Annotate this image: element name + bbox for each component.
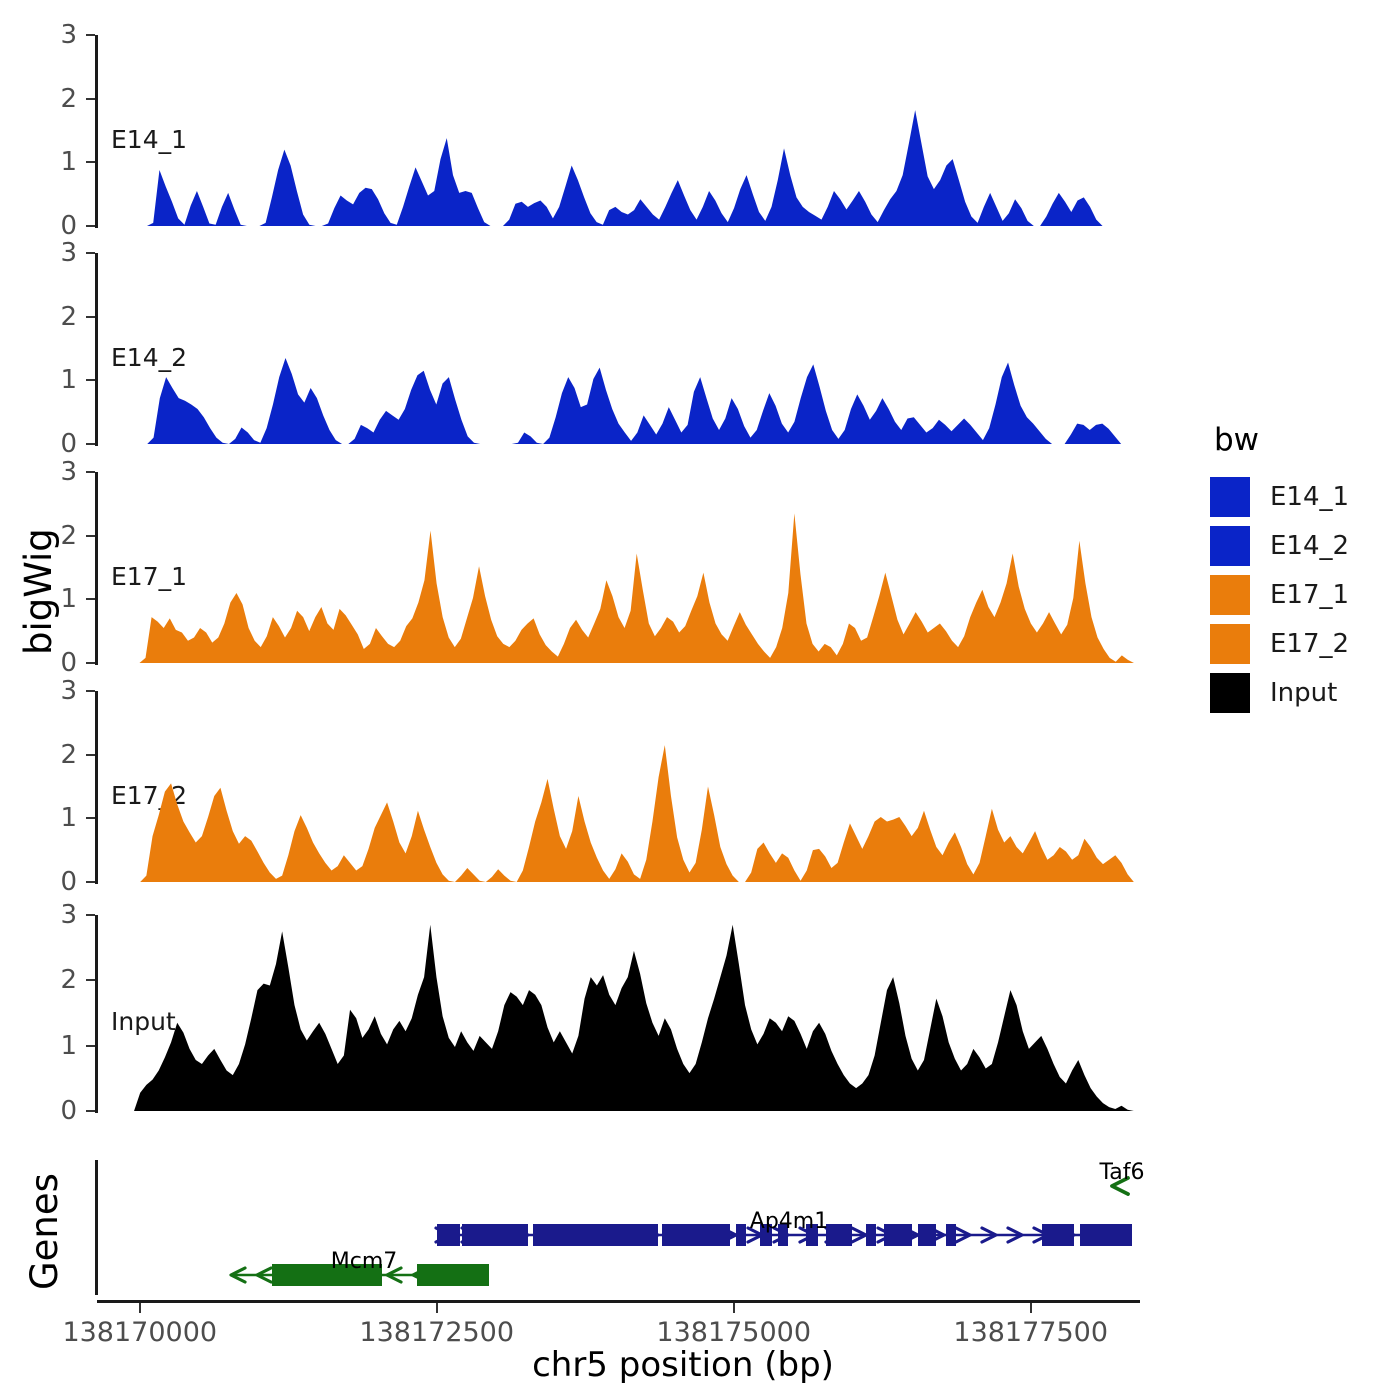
y-tick-mark bbox=[86, 379, 95, 381]
x-tick-label: 138177500 bbox=[953, 1319, 1108, 1346]
x-tick-label: 138172500 bbox=[359, 1319, 514, 1346]
y-tick-mark bbox=[86, 161, 95, 163]
y-tick-label: 0 bbox=[43, 650, 77, 676]
legend-swatch-e17_2 bbox=[1210, 624, 1250, 664]
y-tick-mark bbox=[86, 690, 95, 692]
y-tick-mark bbox=[86, 1045, 95, 1047]
legend-label-e14_2: E14_2 bbox=[1270, 533, 1349, 559]
x-axis-line bbox=[97, 1300, 1140, 1303]
y-tick-mark bbox=[86, 979, 95, 981]
legend-label-e17_2: E17_2 bbox=[1270, 631, 1349, 657]
y-tick-mark bbox=[86, 98, 95, 100]
gene-label-ap4m1: Ap4m1 bbox=[750, 1211, 828, 1233]
legend-item-e17_2[interactable]: E17_2 bbox=[1210, 624, 1349, 664]
y-tick-mark bbox=[86, 252, 95, 254]
y-tick-label: 1 bbox=[43, 149, 77, 175]
legend-item-e14_2[interactable]: E14_2 bbox=[1210, 526, 1349, 566]
x-tick-label: 138175000 bbox=[656, 1319, 811, 1346]
y-tick-mark bbox=[86, 914, 95, 916]
y-tick-mark bbox=[86, 754, 95, 756]
y-tick-mark bbox=[86, 817, 95, 819]
y-tick-label: 3 bbox=[43, 240, 77, 266]
y-tick-mark bbox=[86, 881, 95, 883]
x-tick-label: 138170000 bbox=[62, 1319, 217, 1346]
legend-swatch-input bbox=[1210, 673, 1250, 713]
legend: bw E14_1E14_2E17_1E17_2Input bbox=[1210, 425, 1400, 725]
legend-swatch-e14_2 bbox=[1210, 526, 1250, 566]
x-axis-title: chr5 position (bp) bbox=[532, 1348, 834, 1382]
legend-swatch-e14_1 bbox=[1210, 477, 1250, 517]
track-area-input bbox=[97, 915, 1140, 1113]
y-tick-mark bbox=[86, 535, 95, 537]
legend-item-e14_1[interactable]: E14_1 bbox=[1210, 477, 1349, 517]
legend-swatch-e17_1 bbox=[1210, 575, 1250, 615]
y-tick-label: 3 bbox=[43, 678, 77, 704]
y-tick-label: 2 bbox=[43, 86, 77, 112]
legend-label-input: Input bbox=[1270, 680, 1337, 706]
legend-item-e17_1[interactable]: E17_1 bbox=[1210, 575, 1349, 615]
y-tick-mark bbox=[86, 443, 95, 445]
bigwig-panels: 0123E14_10123E14_20123E17_10123E17_20123… bbox=[0, 0, 1400, 1130]
gene-label-taf6: Taf6 bbox=[1099, 1162, 1144, 1184]
legend-title: bw bbox=[1214, 425, 1259, 456]
legend-label-e14_1: E14_1 bbox=[1270, 484, 1349, 510]
y-tick-label: 2 bbox=[43, 523, 77, 549]
y-tick-label: 1 bbox=[43, 805, 77, 831]
y-tick-mark bbox=[86, 34, 95, 36]
gene-models bbox=[0, 1150, 1400, 1310]
genes-panel: Ap4m1Mcm7Taf6 bbox=[0, 1150, 1400, 1310]
x-tick-mark bbox=[139, 1303, 141, 1313]
x-tick-mark bbox=[1030, 1303, 1032, 1313]
x-tick-mark bbox=[436, 1303, 438, 1313]
legend-label-e17_1: E17_1 bbox=[1270, 582, 1349, 608]
x-tick-mark bbox=[733, 1303, 735, 1313]
y-tick-label: 1 bbox=[43, 1033, 77, 1059]
y-tick-label: 2 bbox=[43, 967, 77, 993]
y-tick-mark bbox=[86, 662, 95, 664]
gene-label-mcm7: Mcm7 bbox=[331, 1251, 398, 1273]
y-tick-label: 2 bbox=[43, 304, 77, 330]
track-area-e17_1 bbox=[97, 472, 1140, 665]
track-area-e14_2 bbox=[97, 253, 1140, 446]
genome-browser-figure: bigWig Genes 0123E14_10123E14_20123E17_1… bbox=[0, 0, 1400, 1400]
y-tick-mark bbox=[86, 316, 95, 318]
y-tick-mark bbox=[86, 225, 95, 227]
track-area-e14_1 bbox=[97, 35, 1140, 228]
legend-item-input[interactable]: Input bbox=[1210, 673, 1337, 713]
y-tick-label: 1 bbox=[43, 367, 77, 393]
y-tick-label: 3 bbox=[43, 459, 77, 485]
y-tick-label: 3 bbox=[43, 902, 77, 928]
y-tick-label: 0 bbox=[43, 869, 77, 895]
y-tick-label: 0 bbox=[43, 431, 77, 457]
y-tick-label: 0 bbox=[43, 213, 77, 239]
y-tick-label: 3 bbox=[43, 22, 77, 48]
y-tick-label: 2 bbox=[43, 742, 77, 768]
y-tick-mark bbox=[86, 598, 95, 600]
y-tick-label: 0 bbox=[43, 1098, 77, 1124]
y-tick-mark bbox=[86, 1110, 95, 1112]
y-tick-label: 1 bbox=[43, 586, 77, 612]
y-tick-mark bbox=[86, 471, 95, 473]
track-area-e17_2 bbox=[97, 691, 1140, 884]
